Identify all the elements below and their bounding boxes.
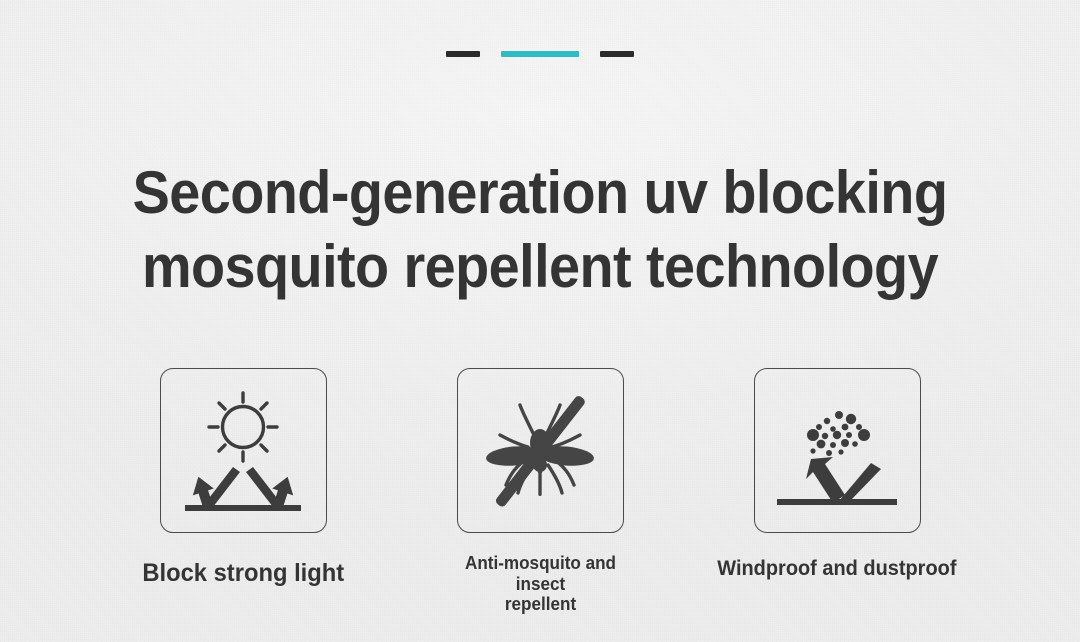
feature-caption-block-strong-light: Block strong light xyxy=(142,559,344,588)
page-title-line-2: mosquito repellent technology xyxy=(38,230,1042,304)
sun-uv-reflection-icon xyxy=(173,381,313,521)
feature-block-strong-light: Block strong light xyxy=(160,368,327,588)
page-title-line-1: Second-generation uv blocking xyxy=(38,156,1042,230)
icon-box-anti-mosquito xyxy=(457,368,624,533)
divider-dash-right xyxy=(600,51,634,57)
top-divider xyxy=(0,51,1080,57)
feature-list: Block strong light xyxy=(0,368,1080,615)
page-title: Second-generation uv blocking mosquito r… xyxy=(38,156,1042,304)
dust-particles xyxy=(807,411,870,456)
feature-caption-anti-mosquito-line-2: repellent xyxy=(461,594,620,615)
feature-caption-anti-mosquito: Anti-mosquito and insect repellent xyxy=(461,553,620,615)
icon-box-block-strong-light xyxy=(160,368,327,533)
promo-banner: Second-generation uv blocking mosquito r… xyxy=(0,0,1080,642)
dust-deflection-icon xyxy=(767,381,907,521)
feature-windproof-dustproof: Windproof and dustproof xyxy=(754,368,921,581)
mosquito-prohibited-icon xyxy=(470,381,610,521)
icon-box-windproof-dustproof xyxy=(754,368,921,533)
divider-dash-accent xyxy=(501,51,579,57)
feature-caption-anti-mosquito-line-1: Anti-mosquito and insect xyxy=(461,553,620,594)
feature-caption-windproof-dustproof: Windproof and dustproof xyxy=(717,557,956,581)
divider-dash-left xyxy=(446,51,480,57)
feature-anti-mosquito: Anti-mosquito and insect repellent xyxy=(457,368,624,615)
